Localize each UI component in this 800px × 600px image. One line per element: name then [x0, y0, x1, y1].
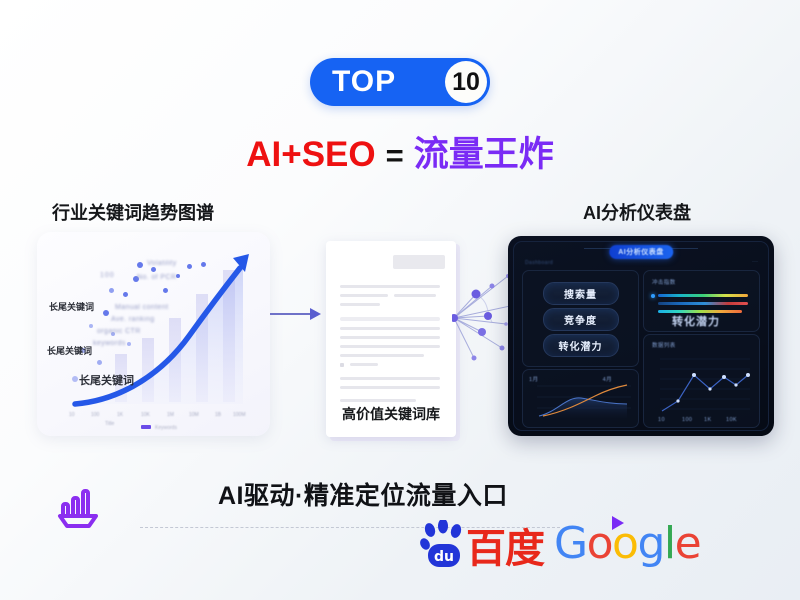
dashboard-screen: AI分析仪表盘 Dashboard ··· 搜索量 竞争度 转化潜力 [513, 241, 769, 431]
keyword-library-document[interactable]: 高价值关键词库 [326, 241, 456, 437]
axis-tick-label: 10K [141, 412, 150, 418]
chart-blurred-text: 100 [100, 272, 115, 279]
dashboard-brand-label: Dashboard [525, 260, 553, 266]
doc-header-block [393, 255, 445, 269]
scatter-dot [127, 342, 131, 346]
axis-sub-label: Title [105, 421, 114, 427]
line-axis-tick: 100 [682, 417, 692, 423]
poster-stage: TOP 10 AI+SEO=流量王炸 行业关键词趋势图谱 AI分析仪表盘 [0, 0, 800, 600]
metric-pill-competition[interactable]: 竞争度 [543, 308, 619, 331]
doc-text-line [350, 363, 378, 366]
baidu-logo[interactable]: du 百度 [420, 520, 544, 568]
google-letter: o [587, 518, 612, 569]
scatter-dot [89, 324, 93, 328]
trend-chart-canvas: Volatility No. of PCR Manual content Ave… [37, 232, 270, 436]
baidu-logo-text: 百度 [466, 530, 544, 568]
chart-blurred-text: Manual content [115, 304, 168, 311]
area-chart-icon [523, 370, 638, 427]
top-badge-circle: 10 [445, 61, 487, 103]
doc-text-line [340, 317, 440, 321]
scatter-dot [123, 292, 128, 297]
doc-text-line [340, 285, 440, 288]
axis-tick-label: 100 [91, 412, 99, 418]
headline-equals: = [386, 138, 404, 173]
gradient-bar [658, 294, 748, 297]
search-engine-logos: du 百度 Google [420, 520, 700, 568]
scatter-dot [187, 264, 192, 269]
axis-tick-label: 1B [215, 412, 221, 418]
doc-label: 高价值关键词库 [326, 404, 456, 424]
scatter-dot [151, 267, 156, 272]
dashboard-menu-icon[interactable]: ··· [752, 259, 758, 265]
axis-tick-label: 1M [167, 412, 174, 418]
top-badge-label: TOP [332, 67, 396, 97]
keyword-network-graph [452, 272, 514, 364]
doc-text-line [340, 354, 424, 357]
doc-text-line [340, 386, 440, 389]
line-chart-icon [644, 335, 759, 427]
google-letter: e [675, 518, 701, 569]
chart-blurred-text: No. of PCR [137, 274, 176, 281]
line-axis-tick: 10 [658, 417, 665, 423]
google-letter: l [664, 518, 675, 569]
headline-part-red: AI+SEO [246, 135, 375, 174]
impact-panel-overlay-label: 转化潜力 [672, 313, 720, 329]
doc-text-line [340, 345, 440, 348]
doc-text-line [394, 294, 436, 297]
right-section-title: AI分析仪表盘 [583, 199, 691, 225]
line-axis-tick: 10K [726, 417, 737, 423]
google-logo[interactable]: Google [554, 522, 700, 566]
metric-pill-conversion[interactable]: 转化潜力 [543, 334, 619, 357]
left-section-title: 行业关键词趋势图谱 [52, 199, 214, 225]
legend-swatch [141, 425, 151, 429]
axis-tick-label: 10 [69, 412, 75, 418]
ai-dashboard-device[interactable]: AI分析仪表盘 Dashboard ··· 搜索量 竞争度 转化潜力 [508, 236, 774, 436]
scatter-dot [97, 360, 102, 365]
chart-blurred-text: Volatility [147, 260, 177, 267]
dashboard-line-chart-panel: 数据列表 [643, 334, 760, 428]
doc-text-line [340, 399, 416, 402]
axis-tick-label: 10M [189, 412, 199, 418]
doc-text-line [340, 294, 388, 297]
top-badge-number: 10 [452, 70, 480, 95]
doc-text-line [340, 327, 440, 330]
line-axis-tick: 1K [704, 417, 712, 423]
headline-part-purple: 流量王炸 [414, 135, 554, 174]
chart-blurred-text: organic CTR [97, 328, 141, 335]
bar-indicator-dot [651, 294, 655, 298]
scatter-dot [201, 262, 206, 267]
doc-text-line [340, 377, 440, 380]
chart-blurred-text: Ave. ranking [111, 316, 155, 323]
scatter-dot [163, 288, 168, 293]
impact-panel-title: 冲击指数 [652, 278, 676, 286]
flow-arrow-icon [270, 306, 322, 322]
scatter-dot [176, 274, 180, 278]
bottom-tagline: AI驱动·精准定位流量入口 [218, 476, 508, 512]
analytics-bars-icon [52, 480, 104, 532]
gradient-bar [658, 302, 748, 305]
baidu-mark-text: du [434, 549, 454, 565]
area-chart-legend: 4月 [603, 375, 612, 383]
doc-text-line [340, 336, 440, 339]
doc-text-line [340, 303, 380, 306]
keyword-label: 长尾关键词 [47, 344, 92, 357]
dashboard-area-chart-panel: 1月 4月 [522, 369, 639, 428]
metric-pill-search-volume[interactable]: 搜索量 [543, 282, 619, 305]
google-letter: o [612, 518, 637, 569]
keyword-label: 长尾关键词 [49, 300, 94, 313]
scatter-dot [137, 262, 143, 268]
chart-blurred-text: keywords [93, 340, 126, 347]
dashboard-metric-panel: 搜索量 竞争度 转化潜力 [522, 270, 639, 367]
scatter-dot [103, 310, 109, 316]
scatter-dot [72, 376, 78, 382]
keyword-label: 长尾关键词 [79, 372, 134, 388]
baidu-paw-icon: du [420, 520, 466, 570]
keyword-trend-card[interactable]: Volatility No. of PCR Manual content Ave… [37, 232, 270, 436]
top-rank-badge[interactable]: TOP 10 [310, 58, 490, 106]
axis-tick-label: 100M [233, 412, 246, 418]
axis-tick-label: 1K [117, 412, 123, 418]
legend-label: Keywords [155, 425, 177, 431]
page-title: AI+SEO=流量王炸 [0, 126, 800, 177]
google-letter: G [554, 518, 587, 569]
google-letter: g [637, 518, 663, 569]
scatter-dot [109, 288, 114, 293]
area-chart-axis-label: 1月 [529, 375, 538, 383]
dashboard-title-badge: AI分析仪表盘 [609, 245, 673, 259]
dashboard-impact-panel: 冲击指数 转化潜力 [643, 270, 760, 332]
doc-bullet [340, 363, 344, 367]
